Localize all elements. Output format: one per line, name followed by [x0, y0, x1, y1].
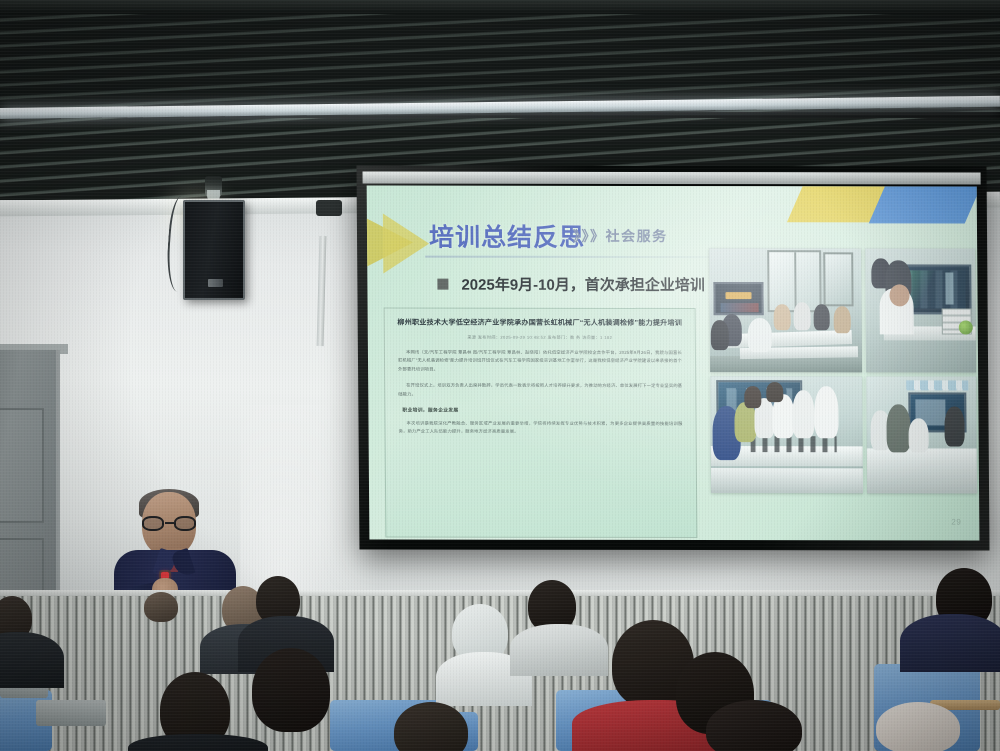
slide-bullet-text: 2025年9月-10月，首次承担企业培训 — [461, 274, 705, 295]
ceiling-slats-upper — [0, 0, 1000, 112]
wall-junction-box — [316, 200, 342, 216]
attendee-shoulders — [510, 624, 608, 676]
attendee-head — [252, 648, 330, 732]
title-underline — [425, 256, 755, 259]
speaker-logo-icon — [208, 279, 223, 287]
ceiling-soffit — [0, 0, 1000, 14]
attendee-head — [876, 702, 960, 751]
attendee-head — [144, 592, 178, 622]
document-closing-paragraph: 本次培训是我院深化产教融合、服务区域产业发展的重要举措，学院将持续发挥专业优势与… — [398, 419, 682, 437]
document-title: 柳州职业技术大学低空经济产业学院承办国营长虹机械厂“无人机装调检修”能力提升培训 — [397, 318, 683, 329]
document-meta: 来源 发布时间：2025-09-29 10:48:52 发布部门：教 务 访问量… — [385, 334, 695, 341]
attendee-head — [706, 700, 802, 751]
slide-number: 29 — [951, 517, 961, 526]
slide-title: 培训总结反思 — [429, 218, 585, 254]
seat-backrest — [36, 700, 106, 726]
smoke-detector-icon — [205, 176, 222, 198]
embedded-news-document: 柳州职业技术大学低空经济产业学院承办国营长虹机械厂“无人机装调检修”能力提升培训… — [384, 307, 698, 538]
document-paragraph: 本网讯（文/汽车工程学院 覃昌林 图/汽车工程学院 覃昌林、赵晓阳）依托低空经济… — [398, 348, 682, 375]
lecture-hall-photo: 培训总结反思 》》》社会服务 2025年9月-10月，首次承担企业培训 柳州职业… — [0, 0, 1000, 751]
photo-classroom-briefing — [709, 248, 862, 372]
bullet-square-icon — [437, 279, 448, 290]
presentation-slide: 培训总结反思 》》》社会服务 2025年9月-10月，首次承担企业培训 柳州职业… — [367, 185, 980, 540]
document-paragraph: 在开班仪式上，培训双方负责人出席并致辞，学员代表一致表示将按照人才培养提升要求，… — [398, 382, 682, 400]
document-subheading: 职业培训，服务企业发展 — [402, 406, 682, 413]
glasses-icon — [141, 516, 197, 531]
photo-hands-on-assembly — [710, 376, 863, 493]
photo-instructor-demo — [866, 376, 977, 493]
side-door[interactable] — [0, 350, 60, 618]
slide-subtitle: 》》》社会服务 — [573, 226, 668, 246]
attendee-shoulders — [900, 614, 1000, 672]
title-triangle-icon-2 — [383, 214, 429, 274]
document-body: 本网讯（文/汽车工程学院 覃昌林 图/汽车工程学院 覃昌林、赵晓阳）依托低空经济… — [398, 348, 683, 437]
screen-top-rail — [363, 171, 981, 184]
photo-flight-simulation — [865, 248, 976, 372]
slide-photo-grid — [709, 248, 977, 493]
slide-bullet-row: 2025年9月-10月，首次承担企业培训 — [437, 274, 705, 295]
corner-accent-blue — [869, 186, 980, 223]
projection-screen: 培训总结反思 》》》社会服务 2025年9月-10月，首次承担企业培训 柳州职业… — [356, 165, 989, 550]
wall-loudspeaker — [183, 200, 245, 300]
